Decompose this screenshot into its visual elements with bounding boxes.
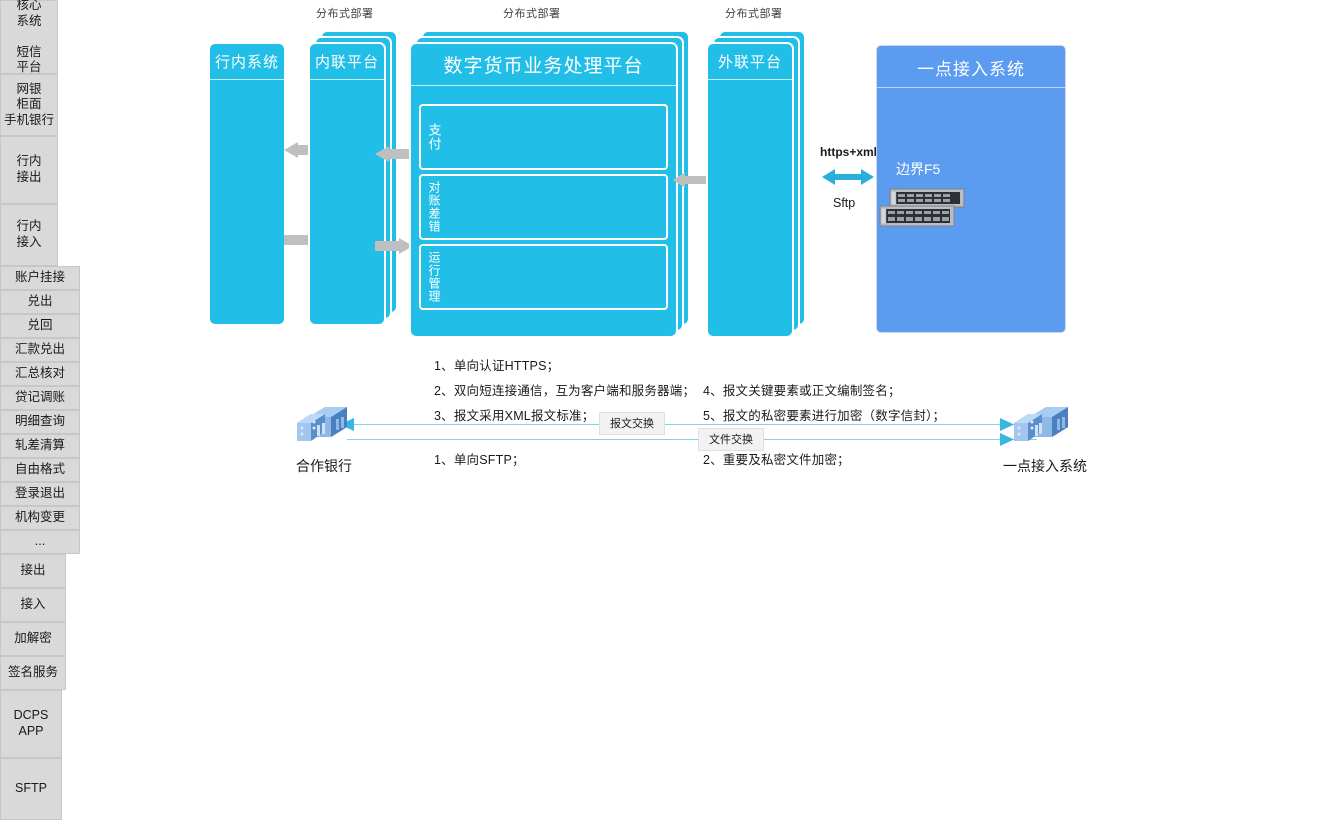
link-label-https-xml: https+xml	[820, 145, 877, 159]
chip-login-logout[interactable]: 登录退出	[0, 482, 80, 506]
chip-remittance-out[interactable]: 汇款兑出	[0, 338, 80, 362]
chip-credit-adjust[interactable]: 贷记调账	[0, 386, 80, 410]
chip-exchange-back[interactable]: 兑回	[0, 314, 80, 338]
link-label-sftp: Sftp	[833, 196, 855, 210]
panel-external-platform: 外联平台	[706, 42, 794, 338]
group-operations-label: 运行管理	[421, 246, 447, 308]
tag-message-exchange: 报文交换	[599, 412, 665, 435]
chip-intra-inbound[interactable]: 行内 接入	[0, 204, 58, 266]
diagram-canvas: 分布式部署 分布式部署 分布式部署 行内系统 核心 系统 短信 平台 网银 柜面…	[0, 0, 1333, 483]
tag-file-exchange: 文件交换	[698, 428, 764, 451]
single-access-server-icon	[1010, 405, 1072, 449]
file-note-1: 1、单向SFTP；	[434, 449, 525, 468]
deploy-caption-dcep: 分布式部署	[503, 5, 561, 21]
chip-core-sms[interactable]: 核心 系统 短信 平台	[0, 0, 58, 74]
panel-intra-system: 行内系统	[208, 42, 286, 326]
single-access-server-label: 一点接入系统	[993, 456, 1097, 476]
chip-detail-query[interactable]: 明细查询	[0, 410, 80, 434]
arrow-intra-inbound-to-dcep	[375, 238, 413, 254]
chip-ext-inbound[interactable]: 接入	[0, 588, 66, 622]
chip-ebank-counter-mobile[interactable]: 网银 柜面 手机银行	[0, 74, 58, 136]
partner-bank-label: 合作银行	[288, 456, 360, 476]
group-payment-label: 支付	[421, 106, 447, 168]
partner-bank-server-icon	[295, 405, 351, 449]
arrow-dcep-to-intra-outbound	[375, 146, 413, 162]
chip-free-format[interactable]: 自由格式	[0, 458, 80, 482]
flow-line-message	[347, 424, 1037, 425]
border-f5-label: 边界F5	[896, 159, 940, 179]
chip-dcps-app[interactable]: DCPS APP	[0, 690, 62, 758]
panel-single-access-system-title: 一点接入系统	[877, 46, 1065, 88]
f5-switch-icon	[876, 188, 968, 232]
message-note-4: 4、报文关键要素或正文编制签名；	[703, 380, 901, 399]
chip-account-link[interactable]: 账户挂接	[0, 266, 80, 290]
chip-sftp[interactable]: SFTP	[0, 758, 62, 820]
chip-summary-check[interactable]: 汇总核对	[0, 362, 80, 386]
chip-exchange-out[interactable]: 兑出	[0, 290, 80, 314]
panel-dcep-platform-title: 数字货币业务处理平台	[411, 44, 676, 86]
panel-intra-system-title: 行内系统	[210, 44, 284, 80]
message-note-1: 1、单向认证HTTPS；	[434, 355, 559, 374]
panel-intranet-platform-title: 内联平台	[310, 44, 384, 80]
arrow-external-access-bidirectional	[822, 168, 874, 186]
chip-ext-outbound[interactable]: 接出	[0, 554, 66, 588]
panel-intranet-platform: 内联平台	[308, 42, 386, 326]
message-note-5: 5、报文的私密要素进行加密（数字信封）；	[703, 405, 945, 424]
chip-netting-settlement[interactable]: 轧差清算	[0, 434, 80, 458]
chip-encrypt-decrypt[interactable]: 加解密	[0, 622, 66, 656]
group-operations: 运行管理	[419, 244, 668, 310]
chip-more[interactable]: ...	[0, 530, 80, 554]
message-note-2: 2、双向短连接通信，互为客户端和服务器端；	[434, 380, 695, 399]
flow-line-file	[347, 439, 1037, 440]
group-reconciliation-label: 对账差错	[421, 176, 447, 238]
chip-signature-service[interactable]: 签名服务	[0, 656, 66, 690]
panel-external-platform-title: 外联平台	[708, 44, 792, 80]
deploy-caption-intranet: 分布式部署	[316, 5, 374, 21]
chip-intra-outbound[interactable]: 行内 接出	[0, 136, 58, 204]
chip-org-change[interactable]: 机构变更	[0, 506, 80, 530]
message-note-3: 3、报文采用XML报文标准；	[434, 405, 594, 424]
group-payment: 支付	[419, 104, 668, 170]
file-note-2: 2、重要及私密文件加密；	[703, 449, 850, 468]
deploy-caption-external: 分布式部署	[725, 5, 783, 21]
group-reconciliation: 对账差错	[419, 174, 668, 240]
